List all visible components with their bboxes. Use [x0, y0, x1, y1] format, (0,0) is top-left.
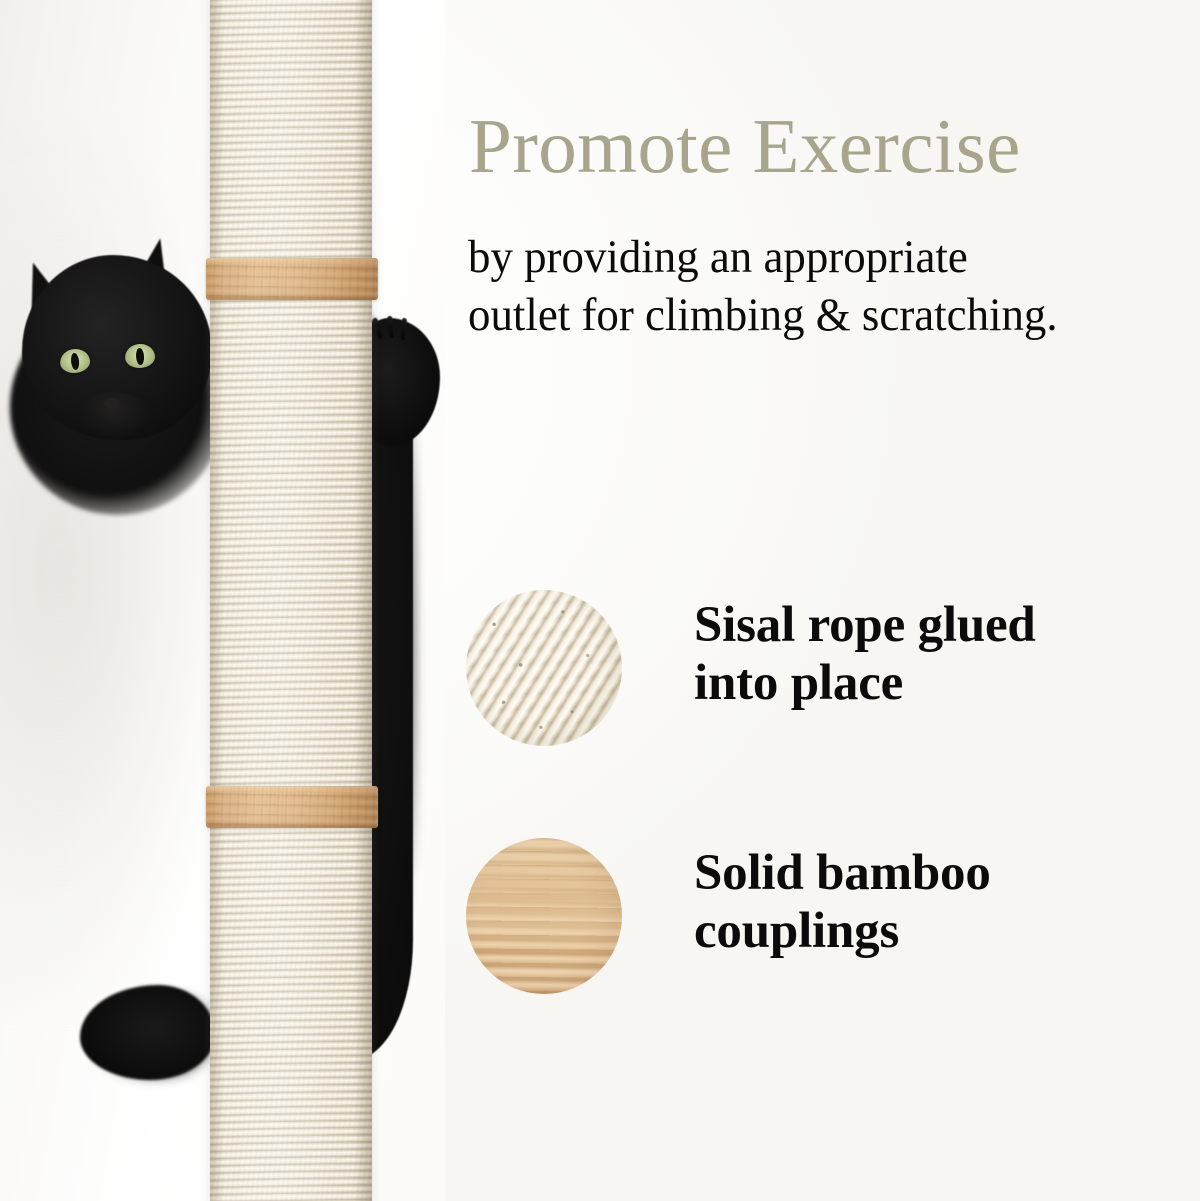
bamboo-grain [206, 258, 378, 300]
sisal-fiber-texture [210, 0, 372, 1201]
cat-claw [372, 317, 383, 340]
bamboo-swatch [466, 838, 622, 994]
sisal-fiber-specks [466, 590, 622, 746]
feature-label-line-2: into place [694, 654, 1199, 712]
subheadline: by providing an appropriate outlet for c… [468, 228, 1198, 344]
bamboo-coupling-upper [206, 258, 378, 300]
cat-pupil-left [70, 353, 80, 371]
subheadline-line-2: outlet for climbing & scratching. [468, 286, 1165, 344]
subheadline-line-1: by providing an appropriate [468, 228, 1165, 286]
product-feature-graphic: Promote Exercise by providing an appropr… [0, 0, 1200, 1201]
feature-item: Solid bamboo couplings [462, 824, 1200, 1072]
feature-label-line-1: Sisal rope glued [694, 596, 1199, 654]
cat-pupil-right [135, 348, 144, 366]
feature-label-line-2: couplings [694, 902, 1199, 960]
feature-label: Solid bamboo couplings [694, 844, 1199, 960]
bamboo-coupling-lower [206, 786, 378, 828]
feature-item: Sisal rope glued into place [462, 576, 1200, 824]
bamboo-grain-texture [466, 838, 622, 994]
post-shadow-left [210, 0, 224, 1201]
sisal-scratching-post [210, 0, 372, 1201]
bamboo-grain [206, 786, 378, 828]
cat-nose [104, 398, 120, 409]
post-shadow-right [354, 0, 372, 1201]
feature-label-line-1: Solid bamboo [694, 844, 1199, 902]
product-photo [0, 0, 445, 1201]
content-panel: Promote Exercise by providing an appropr… [462, 0, 1200, 1201]
feature-list: Sisal rope glued into place Solid bamboo… [462, 576, 1200, 1072]
cat-claw [387, 316, 394, 338]
feature-label: Sisal rope glued into place [694, 596, 1199, 712]
sisal-rope-swatch [466, 590, 622, 746]
cat-tail [80, 985, 215, 1080]
cat-claw [400, 318, 407, 340]
headline: Promote Exercise [469, 104, 1194, 188]
